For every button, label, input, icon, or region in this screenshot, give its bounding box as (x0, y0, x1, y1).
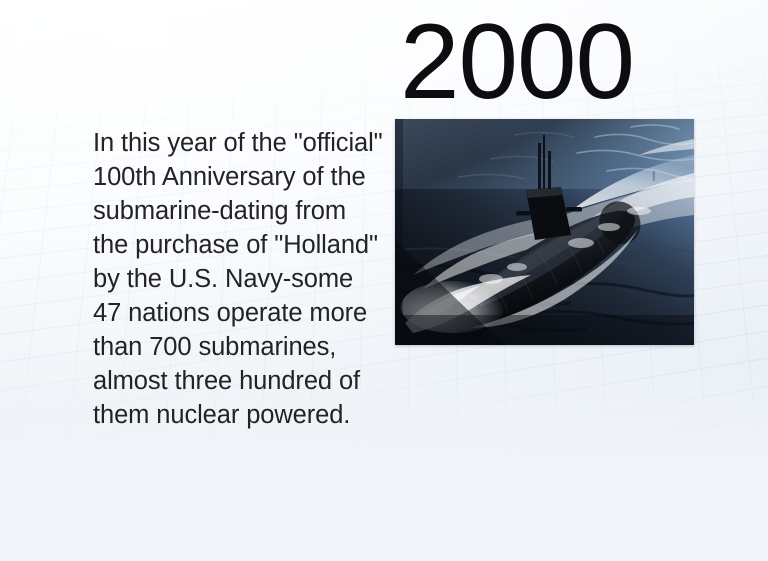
slide: 2000 In this year of the "official" 100t… (0, 0, 768, 561)
body-paragraph: In this year of the "official" 100th Ann… (93, 126, 385, 432)
page-title: 2000 (400, 8, 634, 115)
submarine-photo-graphic (395, 119, 694, 345)
submarine-photo (395, 119, 694, 345)
